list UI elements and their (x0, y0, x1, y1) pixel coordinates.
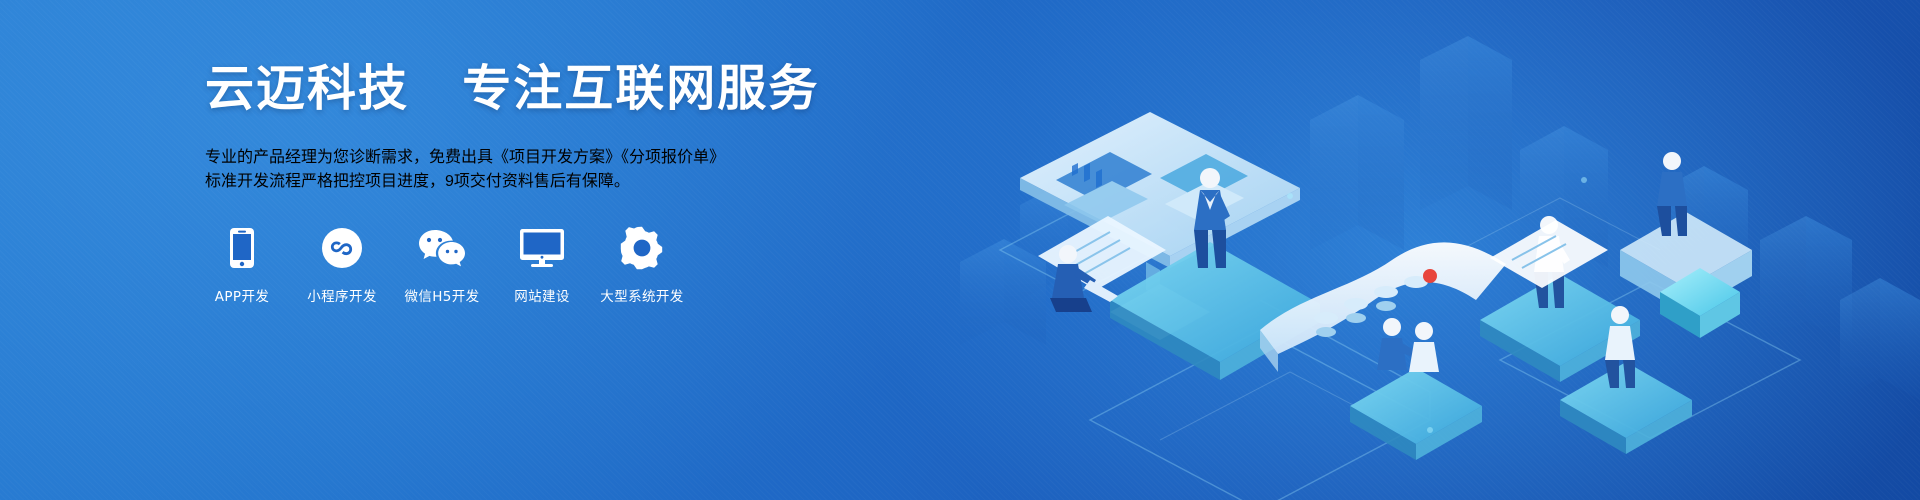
service-label: APP开发 (215, 285, 270, 305)
gear-icon (620, 225, 664, 271)
wechat-icon (417, 225, 467, 271)
page-title: 云迈科技 专注互联网服务 (205, 62, 905, 117)
service-label: 小程序开发 (307, 285, 377, 305)
mobile-phone-icon (229, 225, 255, 271)
headline-tagline: 专注互联网服务 (462, 62, 819, 116)
monitor-icon (519, 225, 565, 271)
subtitle-line-1: 专业的产品经理为您诊断需求，免费出具《项目开发方案》《分项报价单》 (205, 143, 905, 167)
service-item-system[interactable]: 大型系统开发 (605, 225, 679, 305)
service-list: APP开发 小程序开发 (205, 225, 905, 305)
service-label: 微信H5开发 (404, 285, 479, 305)
service-item-wechat-h5[interactable]: 微信H5开发 (405, 225, 479, 305)
subtitle-line-2: 标准开发流程严格把控项目进度，9项交付资料售后有保障。 (205, 167, 905, 191)
banner-content: 云迈科技 专注互联网服务 专业的产品经理为您诊断需求，免费出具《项目开发方案》《… (205, 62, 905, 305)
hero-banner: 云迈科技 专注互联网服务 专业的产品经理为您诊断需求，免费出具《项目开发方案》《… (0, 0, 1920, 500)
service-item-website[interactable]: 网站建设 (505, 225, 579, 305)
service-item-app[interactable]: APP开发 (205, 225, 279, 305)
service-label: 网站建设 (514, 285, 570, 305)
service-item-miniprogram[interactable]: 小程序开发 (305, 225, 379, 305)
headline-brand: 云迈科技 (205, 62, 409, 116)
illustration (960, 0, 1920, 500)
wechat-miniprogram-icon (321, 225, 363, 271)
service-label: 大型系统开发 (600, 285, 683, 305)
